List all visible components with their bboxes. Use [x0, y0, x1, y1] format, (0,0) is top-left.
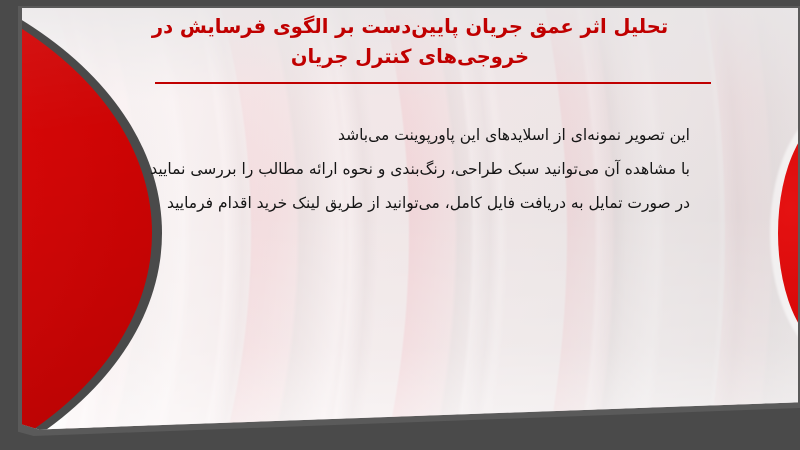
slide-body-line-3: در صورت تمایل به دریافت فایل کامل، می‌تو… [120, 186, 690, 220]
title-underline-rule [155, 82, 711, 84]
slide-body-line-2: با مشاهده آن می‌توانید سبک طراحی، رنگ‌بن… [120, 152, 690, 186]
presentation-slide: تحلیل اثر عمق جریان پایین‌دست بر الگوی ف… [0, 0, 800, 450]
slide-body: این تصویر نمونه‌ای از اسلایدهای این پاور… [120, 118, 690, 220]
slide-body-line-1: این تصویر نمونه‌ای از اسلایدهای این پاور… [120, 118, 690, 152]
slide-title-line-2: خروجی‌های کنترل جریان [120, 42, 700, 72]
slide-title-line-1: تحلیل اثر عمق جریان پایین‌دست بر الگوی ف… [120, 12, 700, 42]
slide-title: تحلیل اثر عمق جریان پایین‌دست بر الگوی ف… [120, 12, 700, 72]
